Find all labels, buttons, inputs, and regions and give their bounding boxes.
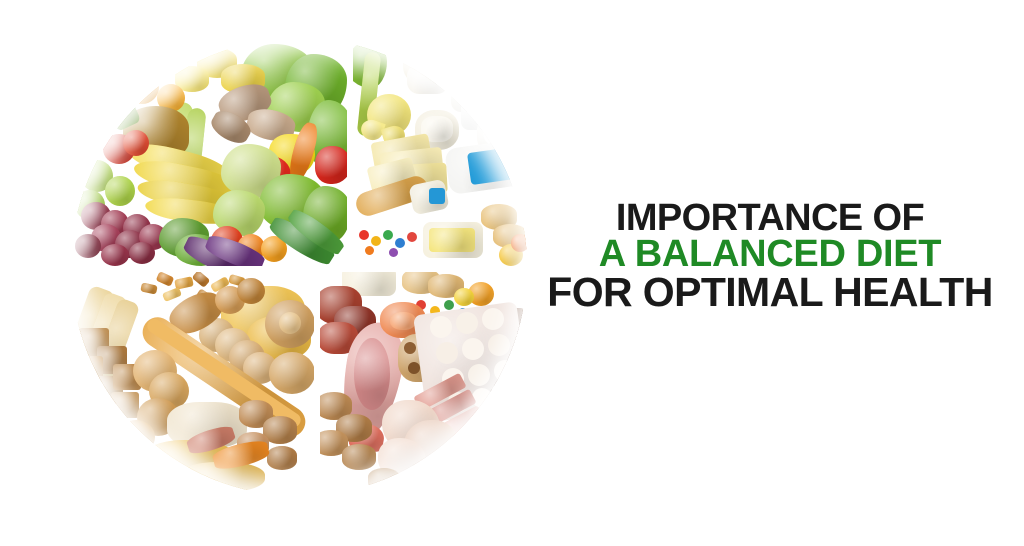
headline-line-3: FOR OPTIMAL HEALTH — [540, 273, 1000, 312]
plate-segment-dairy — [353, 38, 527, 266]
headline-line-1: IMPORTANCE OF — [540, 200, 1000, 236]
plate-segment-fruits-vegetables — [71, 38, 347, 266]
headline-block: IMPORTANCE OF A BALANCED DIET FOR OPTIMA… — [540, 200, 1000, 312]
plate-segment-protein — [320, 272, 527, 496]
balanced-diet-banner: IMPORTANCE OF A BALANCED DIET FOR OPTIMA… — [0, 0, 1024, 546]
food-plate-image — [71, 38, 527, 496]
plate-segment-grains-carbohydrates — [71, 272, 314, 496]
food-plate-circle — [71, 38, 527, 496]
headline-line-2-highlight: A BALANCED DIET — [540, 236, 1000, 272]
